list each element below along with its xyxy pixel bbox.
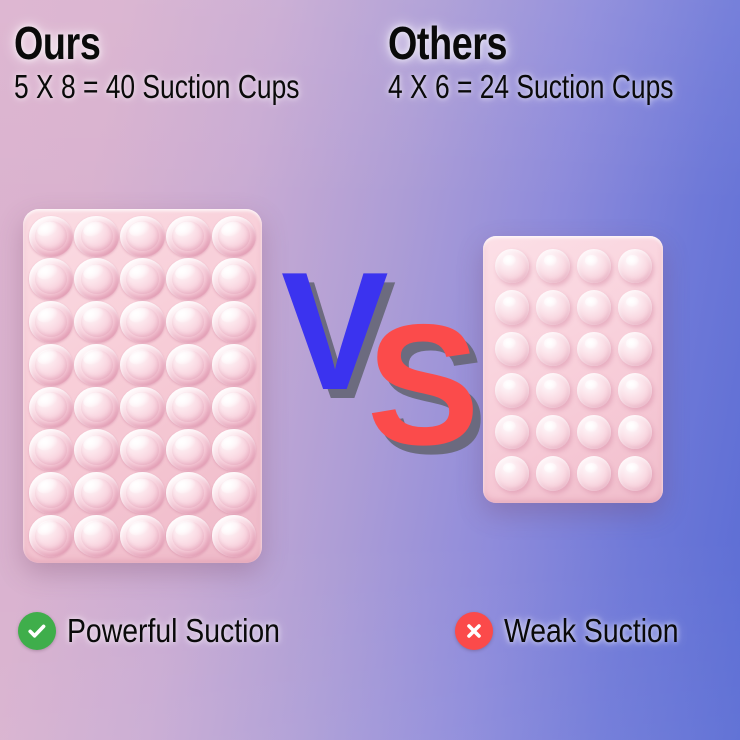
suction-cup [495, 373, 529, 408]
suction-cup [618, 415, 652, 450]
suction-cup [495, 249, 529, 284]
suction-cup [74, 258, 119, 300]
suction-cup [212, 301, 257, 343]
suction-cup [536, 415, 570, 450]
suction-cup [120, 258, 165, 300]
suction-cup [29, 301, 74, 343]
suction-cup [29, 258, 74, 300]
suction-cup [29, 216, 74, 258]
suction-cup [74, 344, 119, 386]
ours-suction-pad [23, 209, 262, 563]
suction-cup [74, 429, 119, 471]
suction-cup [120, 301, 165, 343]
others-verdict: Weak Suction [455, 612, 707, 650]
suction-cup [536, 249, 570, 284]
suction-cup [495, 332, 529, 367]
suction-cup [536, 290, 570, 325]
ours-title: Ours [14, 18, 307, 68]
suction-cup [536, 373, 570, 408]
suction-cup [495, 290, 529, 325]
suction-cup [212, 515, 257, 557]
suction-cup [74, 472, 119, 514]
suction-cup [166, 301, 211, 343]
suction-cup [166, 344, 211, 386]
suction-cup [166, 429, 211, 471]
others-suction-pad [483, 236, 663, 503]
suction-cup [618, 373, 652, 408]
suction-cup [166, 387, 211, 429]
suction-cup [74, 387, 119, 429]
suction-cup [495, 456, 529, 491]
suction-cup [74, 301, 119, 343]
others-spec: 4 X 6 = 24 Suction Cups [388, 68, 673, 106]
ours-spec: 5 X 8 = 40 Suction Cups [14, 68, 299, 106]
x-circle-icon [455, 612, 493, 650]
suction-cup [577, 373, 611, 408]
suction-cup [618, 249, 652, 284]
versus-graphic: V S [281, 247, 477, 467]
suction-cup [577, 290, 611, 325]
suction-cup [166, 515, 211, 557]
suction-cup [495, 415, 529, 450]
others-heading-block: Others 4 X 6 = 24 Suction Cups [388, 18, 740, 106]
suction-cup [166, 472, 211, 514]
suction-cup [212, 387, 257, 429]
suction-cup [618, 290, 652, 325]
ours-verdict: Powerful Suction [18, 612, 315, 650]
suction-cup [29, 472, 74, 514]
suction-cup [74, 216, 119, 258]
suction-cup [577, 249, 611, 284]
suction-cup [120, 515, 165, 557]
suction-cup [212, 429, 257, 471]
suction-cup [577, 332, 611, 367]
suction-cup [577, 415, 611, 450]
suction-cup [29, 344, 74, 386]
others-title: Others [388, 18, 681, 68]
suction-cup [536, 332, 570, 367]
suction-cup [120, 216, 165, 258]
suction-cup [29, 515, 74, 557]
suction-cup [166, 216, 211, 258]
suction-cup [577, 456, 611, 491]
suction-cup [212, 216, 257, 258]
others-verdict-label: Weak Suction [504, 613, 679, 649]
suction-cup [29, 429, 74, 471]
versus-s-letter: S [367, 299, 479, 471]
suction-cup [29, 387, 74, 429]
suction-cup [536, 456, 570, 491]
suction-cup [212, 258, 257, 300]
suction-cup [120, 429, 165, 471]
suction-cup [212, 344, 257, 386]
ours-verdict-label: Powerful Suction [67, 613, 280, 649]
suction-cup [120, 387, 165, 429]
versus-v-letter: V [281, 247, 389, 415]
suction-cup [618, 456, 652, 491]
product-comparison-image: Ours 5 X 8 = 40 Suction Cups Others 4 X … [0, 0, 740, 740]
suction-cup [120, 472, 165, 514]
check-circle-icon [18, 612, 56, 650]
suction-cup [120, 344, 165, 386]
suction-cup [74, 515, 119, 557]
ours-heading-block: Ours 5 X 8 = 40 Suction Cups [14, 18, 371, 106]
suction-cup [618, 332, 652, 367]
suction-cup [212, 472, 257, 514]
suction-cup [166, 258, 211, 300]
